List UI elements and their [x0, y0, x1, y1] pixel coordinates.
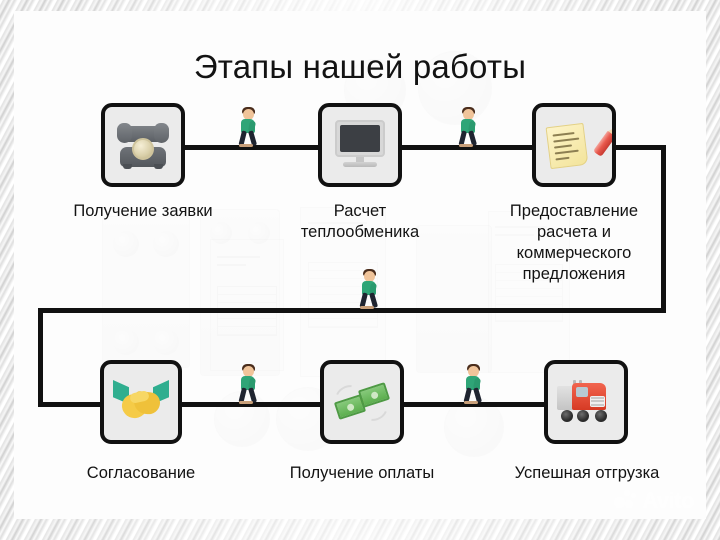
step-3-card[interactable]: [532, 103, 616, 187]
step-3-caption: Предоставление расчета и коммерческого п…: [492, 201, 656, 285]
avito-watermark: Avito: [614, 489, 694, 513]
step-4-caption: Согласование: [53, 463, 229, 484]
connector-left-into-step4: [38, 402, 100, 407]
avito-logo-icon: [614, 489, 638, 513]
walking-person-icon-2: [458, 107, 480, 147]
step-2-card[interactable]: [318, 103, 402, 187]
step-2-caption: Расчет теплообменика: [270, 201, 450, 243]
walking-person-icon-3: [359, 269, 381, 309]
step-4-card[interactable]: [100, 360, 182, 444]
infographic-root: Этапы нашей работы: [0, 0, 720, 540]
monitor-icon: [332, 120, 388, 170]
telephone-icon: [116, 121, 170, 169]
connector-return-across: [38, 308, 666, 313]
connector-left-down: [38, 308, 43, 407]
step-6-caption: Успешная отгрузка: [491, 463, 683, 484]
step-1-caption: Получение заявки: [27, 201, 259, 222]
connector-right-down: [661, 145, 666, 313]
notepad-pencil-icon: [546, 119, 602, 171]
walking-person-icon-1: [238, 107, 260, 147]
page-title: Этапы нашей работы: [14, 47, 706, 87]
ghost-document-1: [210, 239, 284, 371]
money-icon: [335, 378, 389, 426]
step-6-card[interactable]: [544, 360, 628, 444]
diagram-canvas: Этапы нашей работы: [14, 11, 706, 519]
step-5-card[interactable]: [320, 360, 404, 444]
walking-person-icon-4: [238, 364, 260, 404]
step-1-card[interactable]: [101, 103, 185, 187]
walking-person-icon-5: [463, 364, 485, 404]
avito-wordmark: Avito: [642, 490, 694, 512]
truck-icon: [557, 380, 615, 424]
connector-step3-right: [612, 145, 666, 150]
ghost-product-plate-3: [416, 225, 492, 373]
handshake-icon: [111, 380, 171, 424]
step-5-caption: Получение оплаты: [267, 463, 457, 484]
ghost-product-plate-1: [102, 216, 190, 368]
